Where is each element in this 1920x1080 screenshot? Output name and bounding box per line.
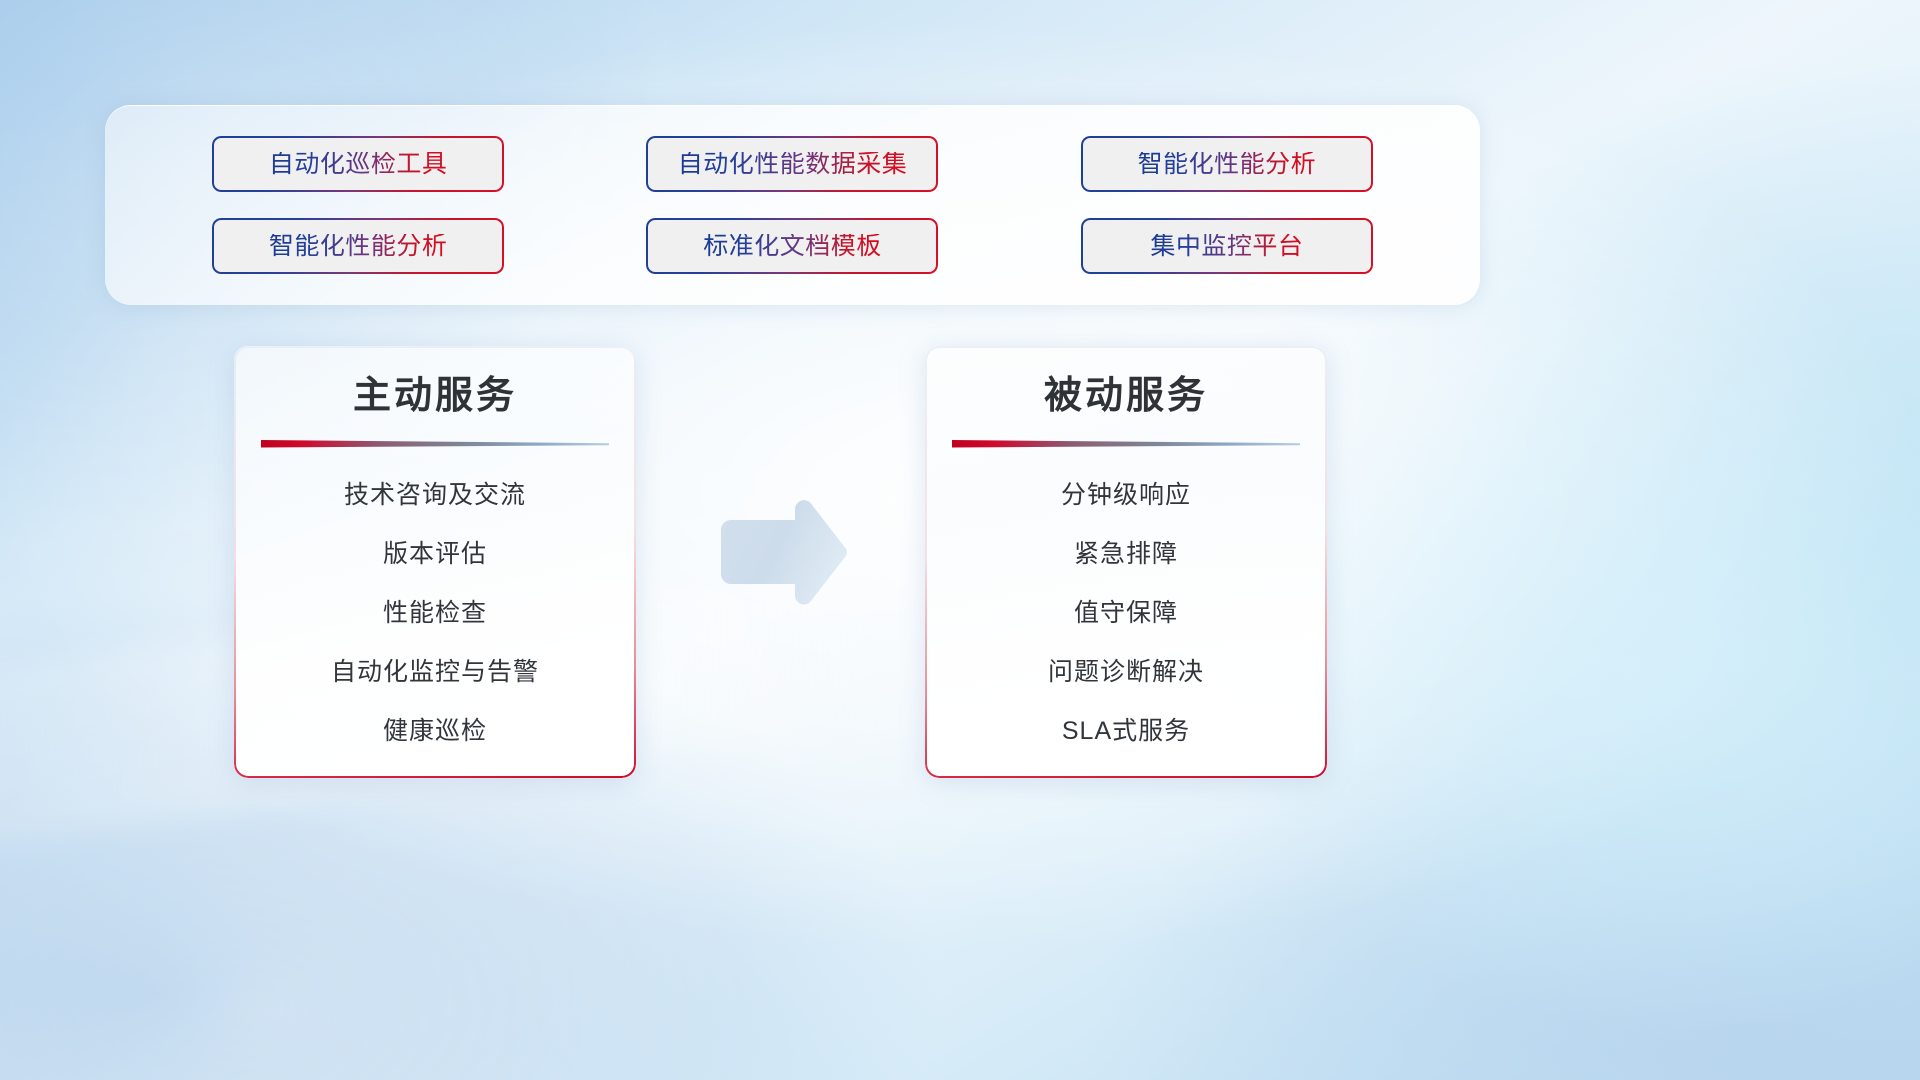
service-card-proactive: 主动服务 技术咨询及交流 版本评估 性能检查 (234, 346, 636, 778)
capability-tag-label: 自动化巡检工具 (269, 152, 448, 177)
list-item: 问题诊断解决 (1048, 657, 1204, 687)
card-content: 被动服务 分钟级响应 紧急排障 值守保障 (925, 346, 1327, 778)
list-item: 技术咨询及交流 (344, 480, 526, 510)
card-divider (952, 438, 1300, 450)
card-content: 主动服务 技术咨询及交流 版本评估 性能检查 (234, 346, 636, 778)
service-item-list: 分钟级响应 紧急排障 值守保障 问题诊断解决 SLA式服务 (955, 476, 1297, 752)
card-title: 被动服务 (1044, 376, 1208, 418)
capability-tag-label: 标准化文档模板 (703, 234, 882, 259)
arrow-right-icon (713, 496, 853, 608)
gradient-divider-icon (261, 438, 609, 450)
capability-tag-label: 智能化性能分析 (269, 234, 448, 259)
list-item: 自动化监控与告警 (331, 657, 539, 687)
card-divider (261, 438, 609, 450)
capabilities-panel: 自动化巡检工具 自动化性能数据采集 智能化性能分析 智能化性能分析 标准化文档模… (105, 105, 1480, 305)
list-item: 紧急排障 (1074, 539, 1178, 569)
list-item: SLA式服务 (1062, 716, 1190, 746)
capability-tag[interactable]: 自动化性能数据采集 (646, 136, 938, 192)
capability-tag-label: 智能化性能分析 (1138, 152, 1317, 177)
capability-tag[interactable]: 标准化文档模板 (646, 218, 938, 274)
service-card-reactive: 被动服务 分钟级响应 紧急排障 值守保障 (925, 346, 1327, 778)
gradient-divider-icon (952, 438, 1300, 450)
capability-tag[interactable]: 集中监控平台 (1081, 218, 1373, 274)
card-title: 主动服务 (353, 376, 517, 418)
list-item: 版本评估 (383, 539, 487, 569)
capability-tag-label: 自动化性能数据采集 (678, 152, 908, 177)
list-item: 分钟级响应 (1061, 480, 1191, 510)
list-item: 性能检查 (383, 598, 487, 628)
arrow-right-shape (713, 496, 853, 608)
list-item: 值守保障 (1074, 598, 1178, 628)
capability-tag[interactable]: 智能化性能分析 (212, 218, 504, 274)
capability-tag[interactable]: 自动化巡检工具 (212, 136, 504, 192)
service-item-list: 技术咨询及交流 版本评估 性能检查 自动化监控与告警 健康巡检 (264, 476, 606, 752)
capability-tag-label: 集中监控平台 (1150, 234, 1303, 259)
capability-tag-grid: 自动化巡检工具 自动化性能数据采集 智能化性能分析 智能化性能分析 标准化文档模… (105, 105, 1480, 305)
list-item: 健康巡检 (383, 716, 487, 746)
capability-tag[interactable]: 智能化性能分析 (1081, 136, 1373, 192)
